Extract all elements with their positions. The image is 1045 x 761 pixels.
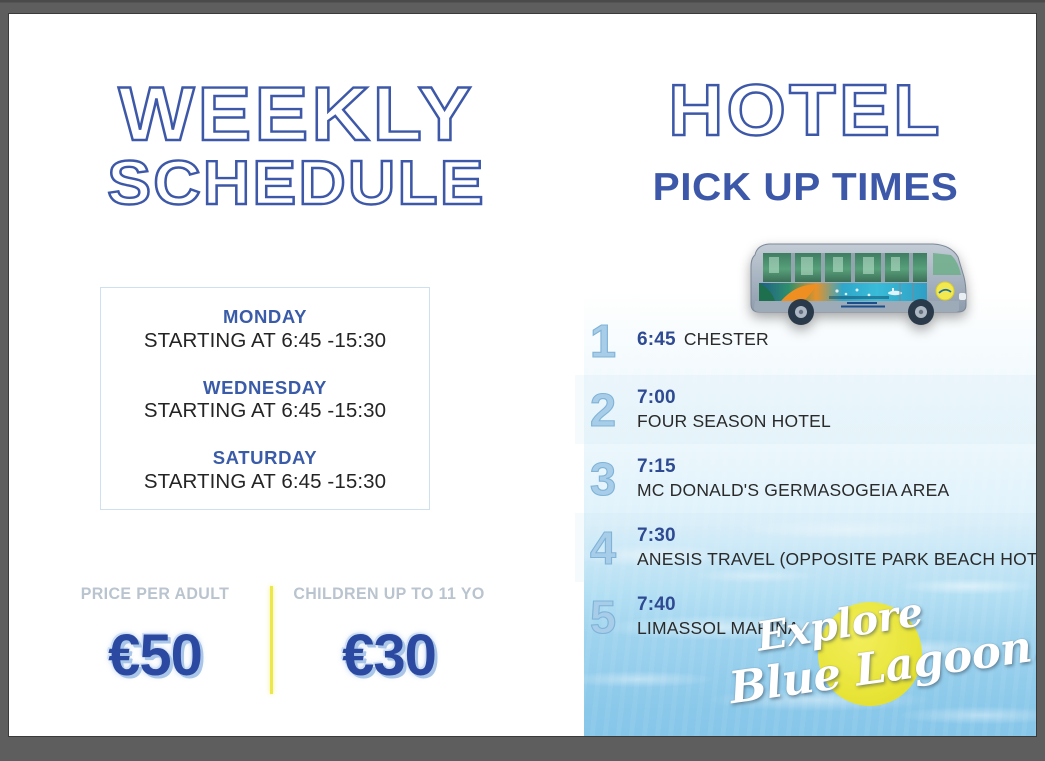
hotel-title-line2: PICK UP TIMES: [566, 166, 1036, 210]
day-time: STARTING AT 6:45 -15:30: [144, 400, 386, 423]
weekly-schedule-panel: WEEKLY SCHEDULE MONDAY STARTING AT 6:45 …: [9, 14, 584, 736]
day-name: SATURDAY: [144, 448, 386, 469]
price-adult-value: €50: [49, 627, 261, 685]
schedule-day-monday: MONDAY STARTING AT 6:45 -15:30: [144, 307, 386, 353]
price-children: CHILDREN UP TO 11 YO €30: [281, 584, 497, 685]
pickup-number: 3: [579, 456, 628, 502]
hotel-title-line1: HOTEL: [561, 76, 1036, 147]
pickup-number: 2: [579, 387, 628, 433]
price-children-label: CHILDREN UP TO 11 YO: [287, 584, 490, 604]
day-name: WEDNESDAY: [144, 378, 386, 399]
minibus-icon: [745, 233, 975, 333]
pickup-time: 7:15: [637, 456, 1036, 478]
price-adult: PRICE PER ADULT €50: [49, 584, 261, 685]
pickup-row-3: 3 7:15 MC DONALD'S GERMASOGEIA AREA: [575, 444, 1036, 513]
pickup-number: 5: [579, 594, 628, 640]
day-time: STARTING AT 6:45 -15:30: [144, 330, 386, 353]
pickup-place: FOUR SEASON HOTEL: [637, 411, 1036, 432]
explore-blue-lagoon-logo: Explore Blue Lagoon!: [720, 589, 1010, 724]
pickup-row-4: 4 7:30 ANESIS TRAVEL (OPPOSITE PARK BEAC…: [575, 513, 1036, 582]
pickup-place: MC DONALD'S GERMASOGEIA AREA: [637, 480, 1036, 501]
pickup-place: ANESIS TRAVEL (OPPOSITE PARK BEACH HOTEL…: [637, 549, 1036, 570]
day-time: STARTING AT 6:45 -15:30: [144, 471, 386, 494]
schedule-day-wednesday: WEDNESDAY STARTING AT 6:45 -15:30: [144, 378, 386, 424]
day-name: MONDAY: [144, 307, 386, 328]
pickup-number: 4: [579, 525, 628, 571]
price-divider: [270, 586, 273, 694]
price-children-value: €30: [281, 627, 497, 685]
weekly-title-line2: SCHEDULE: [9, 154, 601, 215]
weekly-title-line1: WEEKLY: [9, 78, 601, 152]
pickup-time: 7:00: [637, 387, 1036, 409]
pricing-section: PRICE PER ADULT €50 CHILDREN UP TO 11 YO…: [9, 584, 529, 714]
pickup-number: 1: [579, 318, 628, 364]
schedule-day-saturday: SATURDAY STARTING AT 6:45 -15:30: [144, 448, 386, 494]
pickup-time: 7:30: [637, 525, 1036, 547]
schedule-box: MONDAY STARTING AT 6:45 -15:30 WEDNESDAY…: [100, 287, 430, 510]
poster-card: WEEKLY SCHEDULE MONDAY STARTING AT 6:45 …: [9, 14, 1036, 736]
pickup-row-2: 2 7:00 FOUR SEASON HOTEL: [575, 375, 1036, 444]
pickup-time: 6:45: [637, 329, 676, 351]
poster-frame: WEEKLY SCHEDULE MONDAY STARTING AT 6:45 …: [0, 0, 1045, 761]
price-adult-label: PRICE PER ADULT: [55, 584, 254, 604]
